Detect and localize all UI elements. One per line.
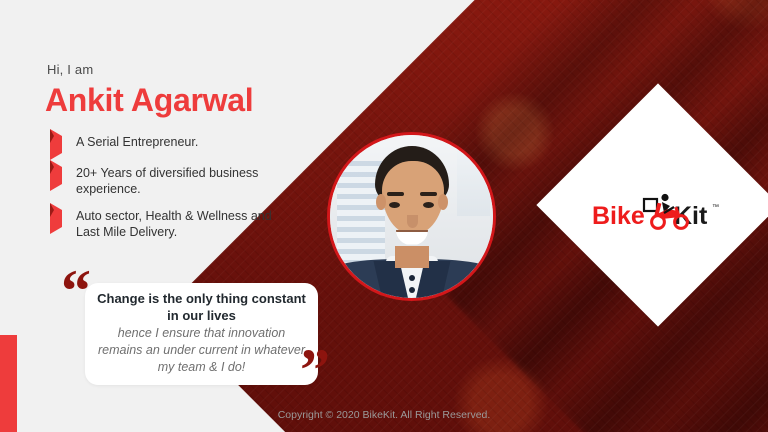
logo-trademark: ™ xyxy=(712,204,719,211)
triangle-bullet-icon xyxy=(50,134,76,154)
list-item: 20+ Years of diversified business experi… xyxy=(50,165,280,197)
quote-card: Change is the only thing constant in our… xyxy=(85,283,318,385)
triangle-bullet-icon xyxy=(50,165,76,185)
list-item-label: A Serial Entrepreneur. xyxy=(76,134,198,150)
bikekit-logo: Bike Kit ™ xyxy=(592,193,724,233)
quote-body: hence I ensure that innovation remains a… xyxy=(95,325,308,376)
portrait-ear-right xyxy=(438,194,448,210)
list-item: Auto sector, Health & Wellness and Last … xyxy=(50,208,280,240)
footer-copyright: Copyright © 2020 BikeKit. All Right Rese… xyxy=(0,409,768,421)
portrait-brow-right xyxy=(420,192,437,196)
bullet-list: A Serial Entrepreneur. 20+ Years of dive… xyxy=(50,134,280,251)
portrait-window-right xyxy=(457,151,490,216)
portrait-button-lower xyxy=(409,287,415,293)
portrait-ear-left xyxy=(376,194,386,210)
triangle-bullet-icon xyxy=(50,208,76,228)
logo-text-bike: Bike xyxy=(592,202,645,230)
portrait-brow-left xyxy=(387,192,404,196)
avatar xyxy=(327,132,496,301)
portrait-button-upper xyxy=(409,275,415,281)
list-item-label: Auto sector, Health & Wellness and Last … xyxy=(76,208,280,240)
portrait-eye-right xyxy=(423,202,434,208)
bikekit-logo-svg: Bike Kit ™ xyxy=(592,193,724,233)
list-item-label: 20+ Years of diversified business experi… xyxy=(76,165,280,197)
portrait-nose xyxy=(407,215,418,228)
presentation-slide: Hi, I am Ankit Agarwal A Serial Entrepre… xyxy=(0,0,768,432)
page-title: Ankit Agarwal xyxy=(45,82,253,119)
quote-headline: Change is the only thing constant in our… xyxy=(95,290,308,324)
portrait-neck xyxy=(395,246,429,268)
portrait-eye-left xyxy=(389,202,400,208)
quote-close-icon: ” xyxy=(300,340,330,400)
list-item: A Serial Entrepreneur. xyxy=(50,134,280,154)
greeting-text: Hi, I am xyxy=(47,62,93,77)
